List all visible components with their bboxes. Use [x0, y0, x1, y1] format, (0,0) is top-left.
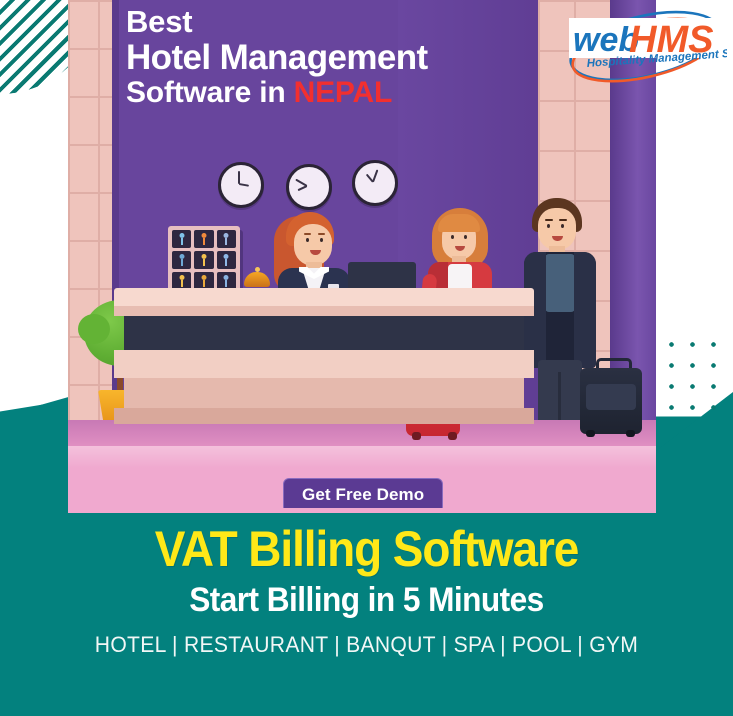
headline-line-3-prefix: Software in: [126, 76, 294, 109]
man-leg-split: [558, 372, 561, 426]
headline-line-2: Hotel Management: [126, 39, 556, 76]
headline-line-1: Best: [126, 6, 556, 39]
dot-grid-icon: [657, 330, 725, 426]
red-suitcase-wheel: [412, 432, 421, 440]
dark-suitcase-panel: [586, 384, 636, 410]
headline-line-3: Software in NEPAL: [126, 76, 556, 109]
receptionist-face: [294, 224, 332, 266]
floor-reflection: [68, 446, 656, 468]
webhms-logo: web HMS Hospitality Management System: [563, 4, 727, 88]
left-brick-pillar: [68, 0, 112, 452]
man-eye: [547, 224, 550, 228]
hero-headline-block: Best Hotel Management Software in NEPAL: [126, 6, 556, 109]
woman-eye: [464, 235, 467, 239]
reception-desk-lower2: [124, 378, 524, 408]
key-cabinet: [168, 226, 240, 294]
man-brow: [559, 219, 567, 221]
man-eye: [561, 224, 564, 228]
key-slot: [172, 230, 191, 248]
receptionist-eye: [320, 238, 323, 242]
bottom-subtitle: Start Billing in 5 Minutes: [26, 574, 708, 619]
wall-clock-icon-1: [218, 162, 264, 208]
key-slot: [217, 230, 236, 248]
man-coat-right-panel: [574, 252, 596, 368]
key-slot: [172, 251, 191, 269]
reception-desk-lower: [114, 350, 534, 378]
headline-country-accent: NEPAL: [294, 76, 392, 109]
receptionist-brow: [318, 233, 325, 235]
promo-poster: Best Hotel Management Software in NEPAL …: [0, 0, 733, 716]
man-brow: [545, 219, 553, 221]
wall-clock-icon-2: [286, 164, 332, 210]
key-slot: [194, 251, 213, 269]
key-slot: [194, 230, 213, 248]
bottom-copy-block: VAT Billing Software Start Billing in 5 …: [0, 512, 733, 716]
man-teal-shirt: [545, 254, 575, 312]
receptionist-brow: [304, 233, 311, 235]
key-slot: [217, 251, 236, 269]
dark-suitcase-wheel: [626, 430, 635, 437]
reception-desk-lip: [114, 306, 534, 316]
wall-clock-icon-3: [352, 160, 398, 206]
red-suitcase-wheel: [448, 432, 457, 440]
reception-desk-base: [114, 408, 534, 424]
receptionist-eye: [306, 238, 309, 242]
bottom-services-list: HOTEL | RESTAURANT | BANQUT | SPA | POOL…: [15, 619, 719, 658]
woman-eye: [451, 235, 454, 239]
man-face: [538, 208, 576, 250]
reception-desk-mid: [124, 316, 524, 350]
bottom-title: VAT Billing Software: [29, 512, 703, 574]
webhms-logo-svg: web HMS Hospitality Management System: [563, 4, 727, 88]
dark-suitcase-wheel: [586, 430, 595, 437]
service-bell-icon: [244, 272, 270, 287]
woman-hair-fringe: [438, 214, 480, 232]
